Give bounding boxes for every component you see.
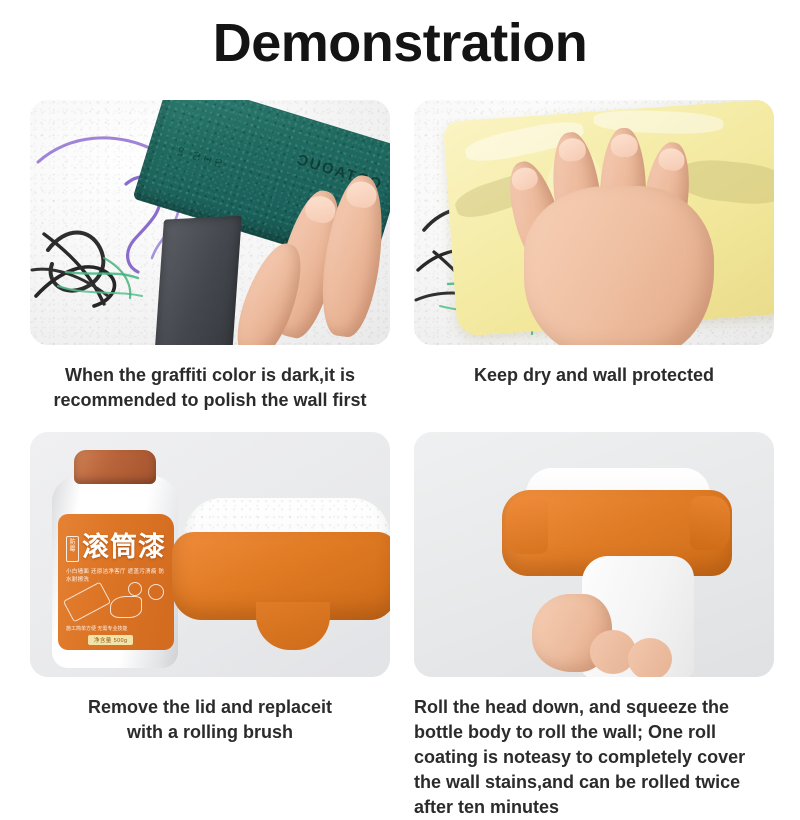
roller-neck: [256, 602, 330, 650]
diagram-step-badge: [148, 584, 164, 600]
palm: [524, 186, 714, 345]
diagram-step-badge: [128, 582, 142, 596]
step-4-caption: Roll the head down, and squeeze the bott…: [414, 677, 774, 820]
step-2-caption: Keep dry and wall protected: [414, 345, 774, 388]
fingernail: [557, 137, 587, 163]
step-2-photo: [414, 100, 774, 345]
bottle-label: 防霉 滚筒漆 小白墙面 还原洁净客厅 遮盖污渍痕 防水耐擦洗 施工简单方便 无需…: [58, 514, 174, 650]
label-tag: 防霉: [66, 536, 79, 562]
hand: [532, 582, 682, 677]
label-net-weight-badge: 净含量 500g: [88, 635, 133, 645]
label-usage-diagram-icon: [64, 580, 168, 628]
page-title: Demonstration: [0, 14, 800, 72]
step-1-photo: QBTAOUC SHS 2: [30, 100, 390, 345]
hand: [506, 128, 736, 345]
fingernail: [657, 147, 686, 172]
knuckle: [628, 638, 672, 677]
fingernail: [611, 134, 638, 157]
fingernail: [345, 180, 378, 210]
roller-brush-head: [172, 498, 390, 664]
bottle-cap: [74, 450, 156, 484]
demonstration-page: Demonstration: [0, 0, 800, 800]
hand: [186, 167, 390, 345]
fingernail: [509, 165, 540, 193]
diagram-bottle-shape: [63, 582, 111, 623]
step-3-photo: 防霉 滚筒漆 小白墙面 还原洁净客厅 遮盖污渍痕 防水耐擦洗 施工简单方便 无需…: [30, 432, 390, 677]
step-card-1: QBTAOUC SHS 2 When: [30, 100, 390, 413]
roller-side-arm-left: [506, 496, 548, 554]
step-4-photo: [414, 432, 774, 677]
step-card-2: Keep dry and wall protected: [414, 100, 774, 388]
label-title: 滚筒漆: [82, 532, 166, 562]
step-card-4: Roll the head down, and squeeze the bott…: [414, 432, 774, 820]
step-3-caption: Remove the lid and replaceit with a roll…: [30, 677, 390, 745]
paint-bottle: 防霉 滚筒漆 小白墙面 还原洁净客厅 遮盖污渍痕 防水耐擦洗 施工简单方便 无需…: [52, 450, 178, 668]
roller-side-arm-right: [690, 496, 730, 550]
diagram-hand-shape: [110, 596, 142, 618]
step-1-caption: When the graffiti color is dark,it is re…: [30, 345, 390, 413]
step-card-3: 防霉 滚筒漆 小白墙面 还原洁净客厅 遮盖污渍痕 防水耐擦洗 施工简单方便 无需…: [30, 432, 390, 745]
label-footer-text: 施工简单方便 无需专业技能: [66, 626, 162, 633]
